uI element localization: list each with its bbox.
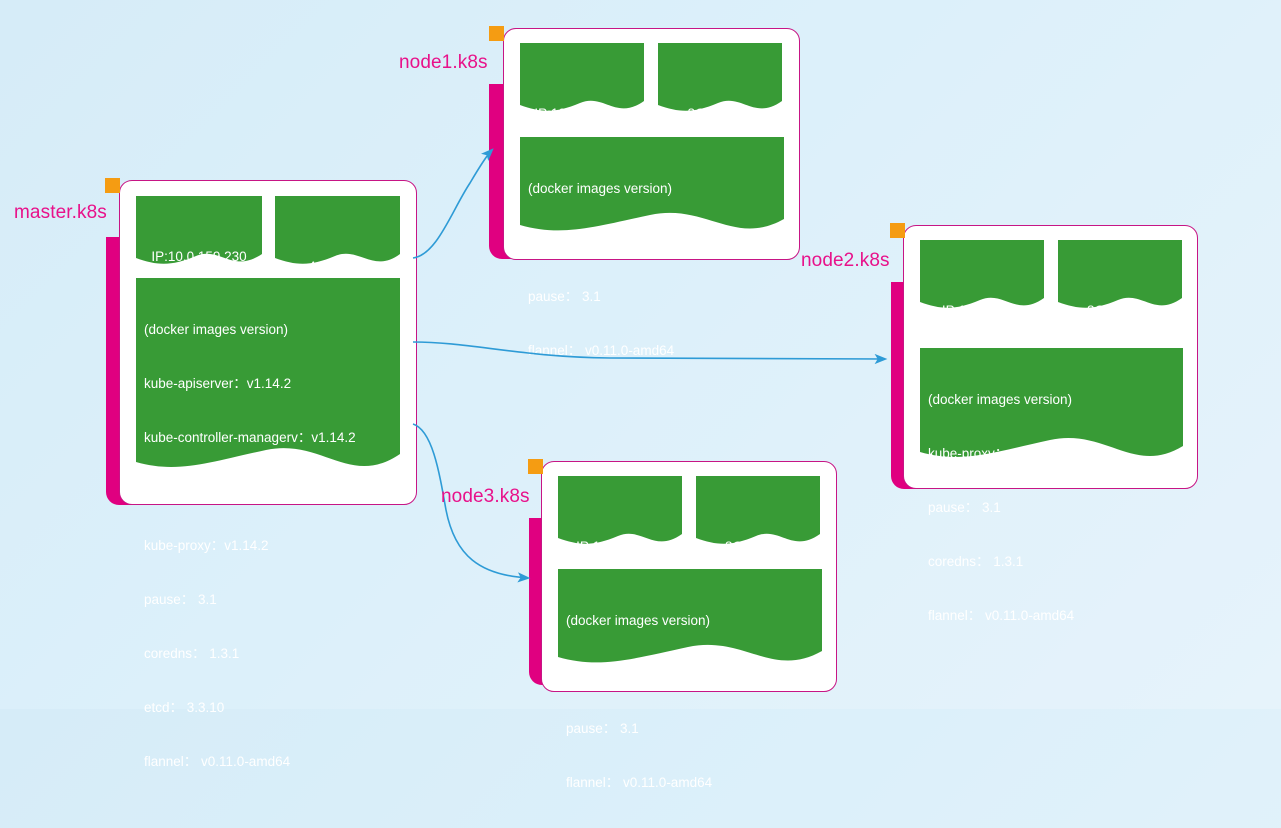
node-label-node3: node3.k8s: [441, 486, 530, 508]
spec-panel-node2: 8CPU-13G: [1058, 240, 1182, 318]
images-panel-node1-text: (docker images version) kube-proxy：v1.14…: [520, 137, 784, 396]
ip-panel-node1: IP:10.0.228.104: [520, 43, 644, 121]
node-marker-icon-master: [105, 178, 120, 193]
spec-panel-master: 4CPU-8G: [275, 196, 400, 274]
ip-panel-master: IP:10.0.159.230 EIP:172.20.13.244: [136, 196, 262, 274]
node-label-node2: node2.k8s: [801, 250, 890, 272]
images-panel-node2: (docker images version) kube-proxy：v1.14…: [920, 348, 1183, 473]
node-label-master: master.k8s: [14, 202, 107, 224]
images-panel-node3-text: (docker images version) kube-proxy：v1.14…: [558, 569, 822, 828]
images-panel-master: (docker images version) kube-apiserver：v…: [136, 278, 400, 488]
diagram-canvas: master.k8s IP:10.0.159.230 EIP:172.20.13…: [0, 0, 1281, 709]
images-panel-node3: (docker images version) kube-proxy：v1.14…: [558, 569, 822, 675]
spec-panel-node1: 8CPU-11G: [658, 43, 782, 121]
arrow-master-to-node1: [413, 150, 492, 258]
images-panel-node2-text: (docker images version) kube-proxy：v1.14…: [920, 348, 1183, 661]
node-label-node1: node1.k8s: [399, 52, 488, 74]
ip-panel-node2: IP:10.0.85.28: [920, 240, 1044, 318]
ip-panel-node2-text: IP:10.0.85.28: [920, 240, 1044, 356]
ip-panel-node3: IP:10.0.106.13: [558, 476, 682, 554]
spec-panel-node2-text: 8CPU-13G: [1058, 240, 1182, 356]
node-marker-icon-node1: [489, 26, 504, 41]
spec-panel-node3: 8CPU-16G: [696, 476, 820, 554]
images-panel-node1: (docker images version) kube-proxy：v1.14…: [520, 137, 784, 243]
node-marker-icon-node3: [528, 459, 543, 474]
node-marker-icon-node2: [890, 223, 905, 238]
images-panel-master-text: (docker images version) kube-apiserver：v…: [136, 278, 400, 807]
